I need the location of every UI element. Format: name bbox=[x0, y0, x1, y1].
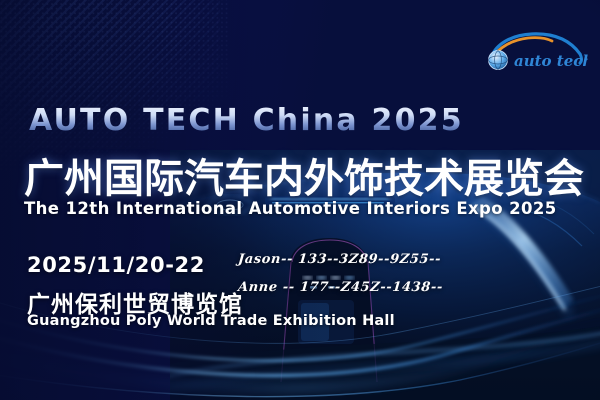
title-chinese: 广州国际汽车内外饰技术展览会 bbox=[24, 146, 584, 204]
venue-english: Guangzhou Poly World Trade Exhibition Ha… bbox=[27, 313, 395, 329]
poster-text-content: AUTO TECH China 2025 广州国际汽车内外饰技术展览会 The … bbox=[0, 0, 600, 400]
contact-anne: Anne -- 177--Z45Z--1438-- bbox=[237, 280, 443, 295]
subtitle-english: The 12th International Automotive Interi… bbox=[24, 199, 557, 218]
title-english: AUTO TECH China 2025 bbox=[29, 103, 464, 138]
poster-canvas: auto tech AUTO TECH China 2025 广州国际汽车内外饰… bbox=[0, 0, 600, 400]
contact-jason: Jason-- 133--3Z89--9Z55-- bbox=[237, 252, 443, 267]
contact-list: Jason-- 133--3Z89--9Z55-- Anne -- 177--Z… bbox=[238, 252, 443, 308]
event-date: 2025/11/20-22 bbox=[27, 253, 205, 277]
